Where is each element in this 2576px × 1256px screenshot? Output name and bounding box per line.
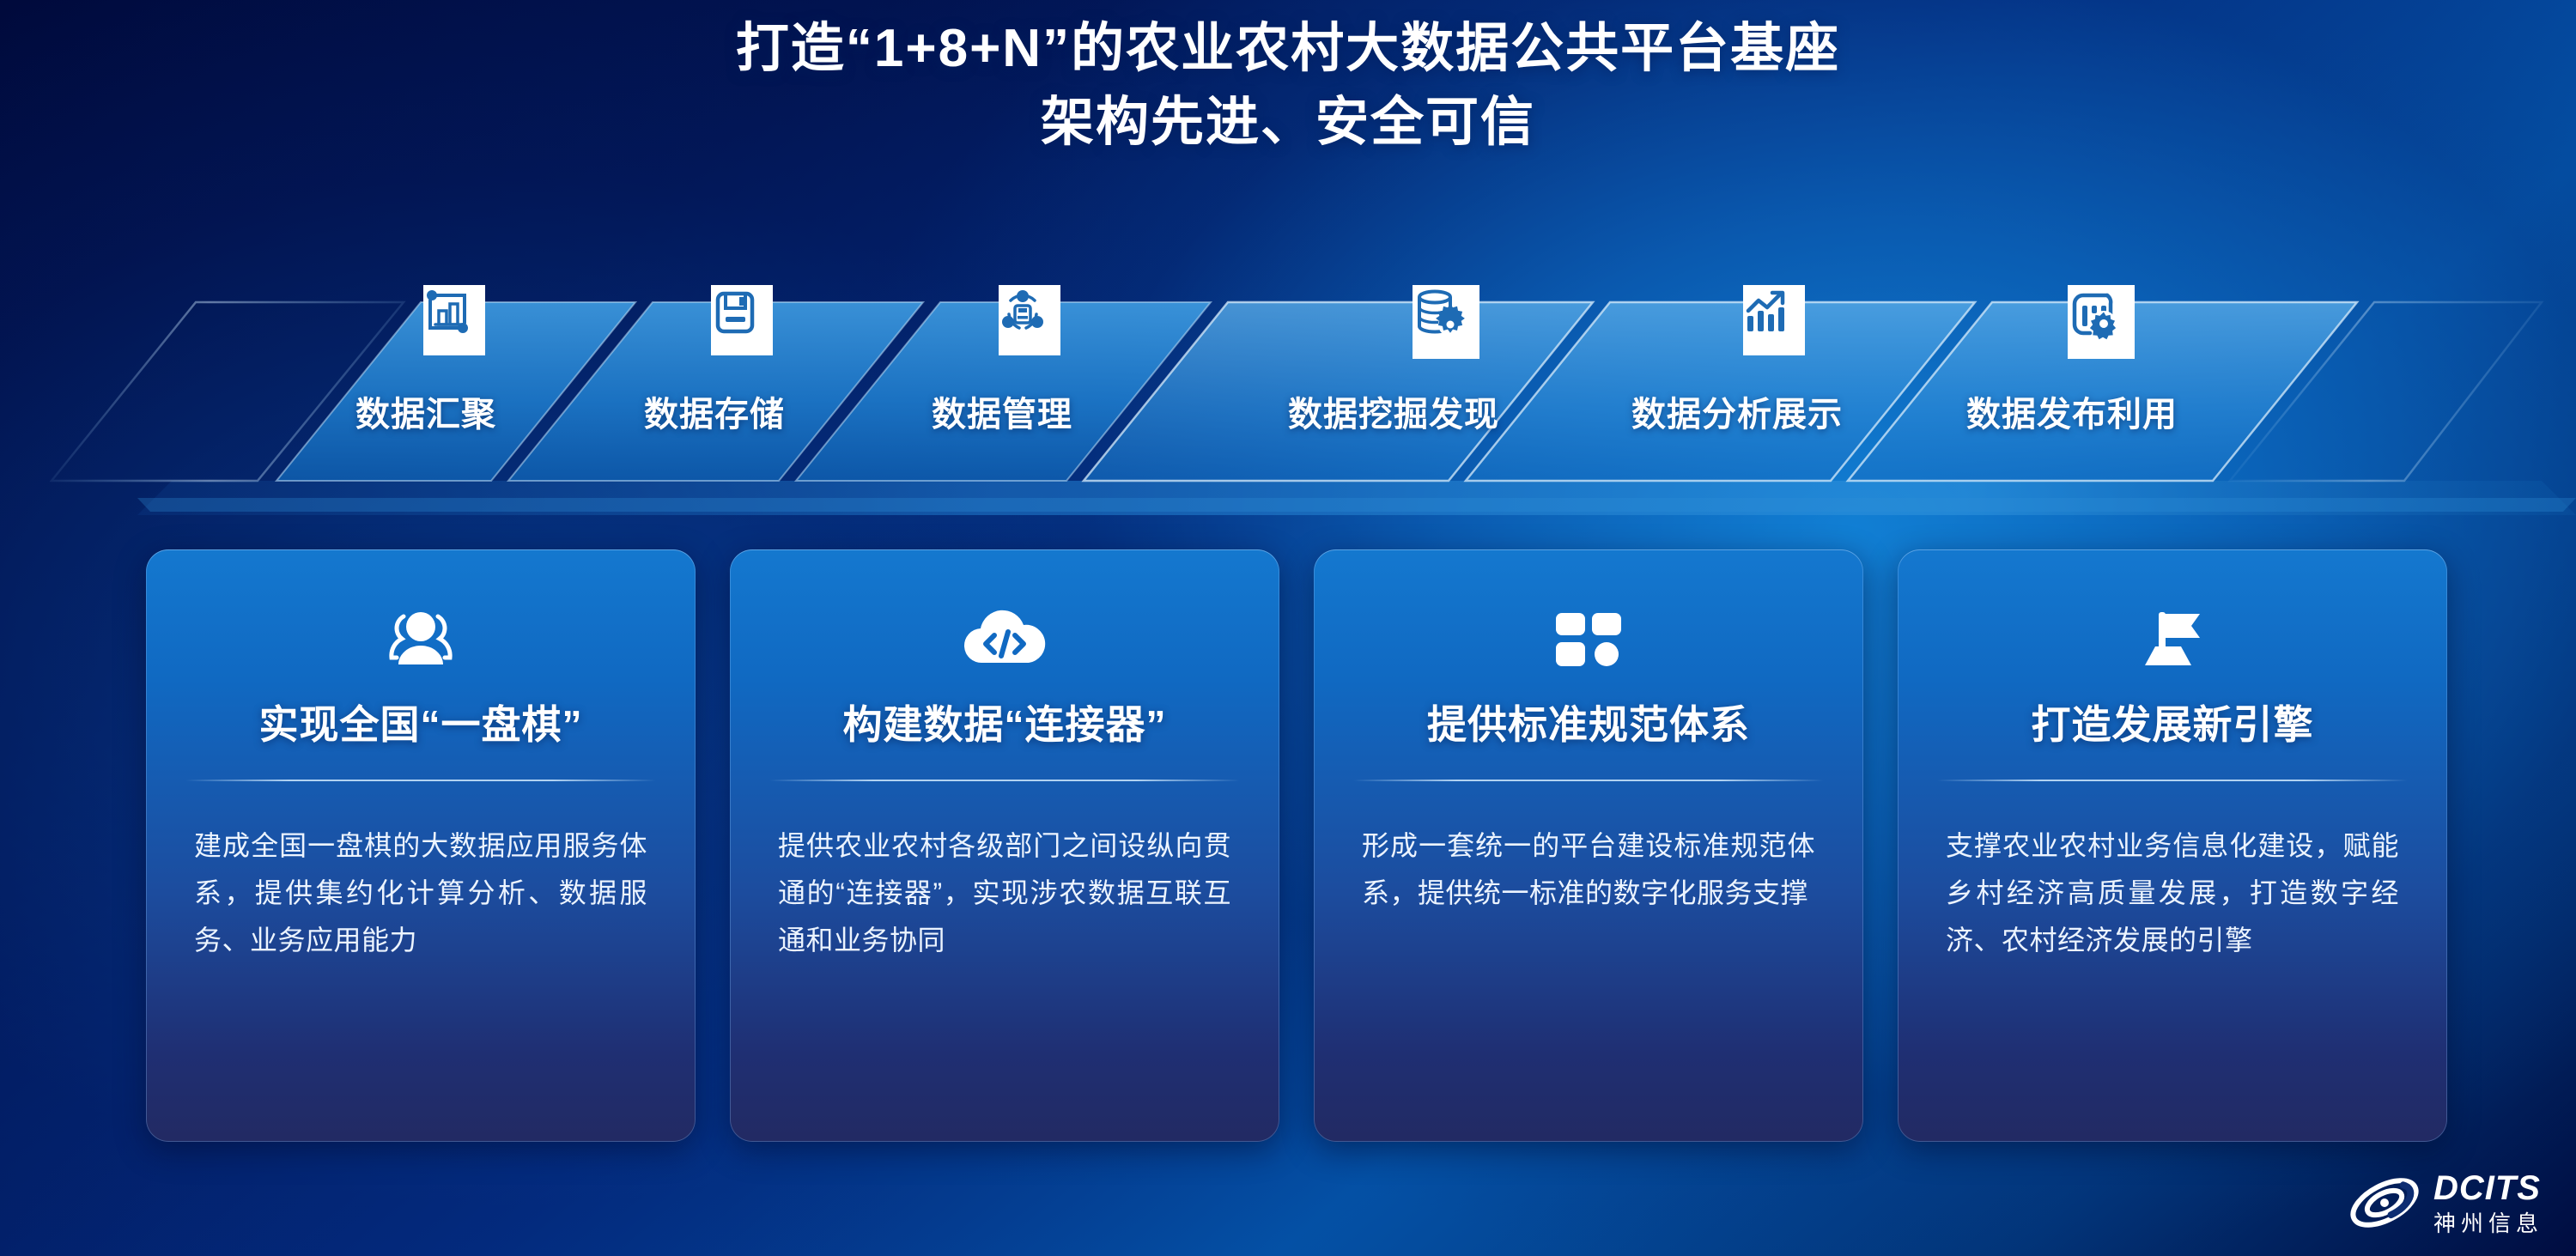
feature-card-3-title: 打造发展新引擎 xyxy=(1898,701,2447,749)
database-gear-icon xyxy=(1413,285,1466,342)
feature-card-0[interactable]: 实现全国“一盘棋” 建成全国一盘棋的大数据应用服务体系，提供集约化计算分析、数据… xyxy=(146,549,696,1142)
page-title: 打造“1+8+N”的农业农村大数据公共平台基座 架构先进、安全可信 xyxy=(0,12,2576,160)
feature-card-1-divider xyxy=(769,780,1240,781)
bar-chart-frame-icon xyxy=(423,285,471,338)
feature-card-3-icon-wrap xyxy=(1898,599,2447,682)
feature-card-list: 实现全国“一盘棋” 建成全国一盘棋的大数据应用服务体系，提供集约化计算分析、数据… xyxy=(0,549,2576,1150)
feature-card-2-title: 提供标准规范体系 xyxy=(1314,701,1863,749)
segment-icon-1 xyxy=(711,285,773,355)
feature-card-2-divider xyxy=(1353,780,1824,781)
segment-icon-2 xyxy=(999,285,1060,355)
grid-squares-icon xyxy=(1552,610,1625,671)
segment-label-1[interactable]: 数据存储 xyxy=(644,386,785,436)
logo-text-cn: 神州信息 xyxy=(2433,1212,2543,1235)
segment-icon-4 xyxy=(1743,285,1805,355)
brand-logo: DCITS 神州信息 xyxy=(2348,1170,2543,1235)
segment-label-0[interactable]: 数据汇聚 xyxy=(355,386,496,436)
feature-card-2[interactable]: 提供标准规范体系 形成一套统一的平台建设标准规范体系，提供统一标准的数字化服务支… xyxy=(1314,549,1863,1142)
feature-card-2-body: 形成一套统一的平台建设标准规范体系，提供统一标准的数字化服务支撑 xyxy=(1362,822,1815,917)
feature-card-3-divider xyxy=(1937,780,2408,781)
logo-text-en: DCITS xyxy=(2433,1171,2543,1205)
feature-card-1-title: 构建数据“连接器” xyxy=(730,701,1279,749)
logo-wordmark: DCITS 神州信息 xyxy=(2433,1171,2543,1235)
segment-label-5[interactable]: 数据发布利用 xyxy=(1966,386,2178,436)
feature-card-1[interactable]: 构建数据“连接器” 提供农业农村各级部门之间设纵向贯通的“连接器”，实现涉农数据… xyxy=(730,549,1279,1142)
network-hub-icon xyxy=(999,285,1047,338)
title-line-2: 架构先进、安全可信 xyxy=(0,86,2576,160)
slide-canvas: 打造“1+8+N”的农业农村大数据公共平台基座 架构先进、安全可信 xyxy=(0,0,2576,1256)
platform-ribbon: 数据汇聚 数据存储 数据管理 数据挖掘发现 数据分析展示 数据发布利用 xyxy=(0,283,2576,532)
feature-card-0-icon-wrap xyxy=(146,599,696,682)
segment-label-3[interactable]: 数据挖掘发现 xyxy=(1288,386,1499,436)
growth-chart-icon xyxy=(1743,285,1793,338)
feature-card-2-icon-wrap xyxy=(1314,599,1863,682)
segment-label-4[interactable]: 数据分析展示 xyxy=(1631,386,1843,436)
feature-card-1-body: 提供农业农村各级部门之间设纵向贯通的“连接器”，实现涉农数据互联互通和业务协同 xyxy=(778,822,1231,964)
segment-icon-3 xyxy=(1413,285,1479,359)
title-line-1: 打造“1+8+N”的农业农村大数据公共平台基座 xyxy=(0,12,2576,86)
floppy-disk-icon xyxy=(711,285,759,338)
segment-icon-0 xyxy=(423,285,485,355)
feature-card-0-divider xyxy=(185,780,656,781)
dashboard-gear-icon xyxy=(2068,285,2121,342)
segment-label-2[interactable]: 数据管理 xyxy=(932,386,1072,436)
segment-icon-5 xyxy=(2068,285,2135,359)
dcits-swirl-icon xyxy=(2348,1170,2421,1235)
feature-card-0-body: 建成全国一盘棋的大数据应用服务体系，提供集约化计算分析、数据服务、业务应用能力 xyxy=(194,822,647,964)
flag-icon xyxy=(2133,607,2212,674)
feature-card-3-body: 支撑农业农村业务信息化建设，赋能乡村经济高质量发展，打造数字经济、农村经济发展的… xyxy=(1946,822,2399,964)
cloud-code-icon xyxy=(960,608,1049,673)
people-group-icon xyxy=(380,604,462,677)
feature-card-0-title: 实现全国“一盘棋” xyxy=(146,701,696,749)
feature-card-1-icon-wrap xyxy=(730,599,1279,682)
feature-card-3[interactable]: 打造发展新引擎 支撑农业农村业务信息化建设，赋能乡村经济高质量发展，打造数字经济… xyxy=(1898,549,2447,1142)
